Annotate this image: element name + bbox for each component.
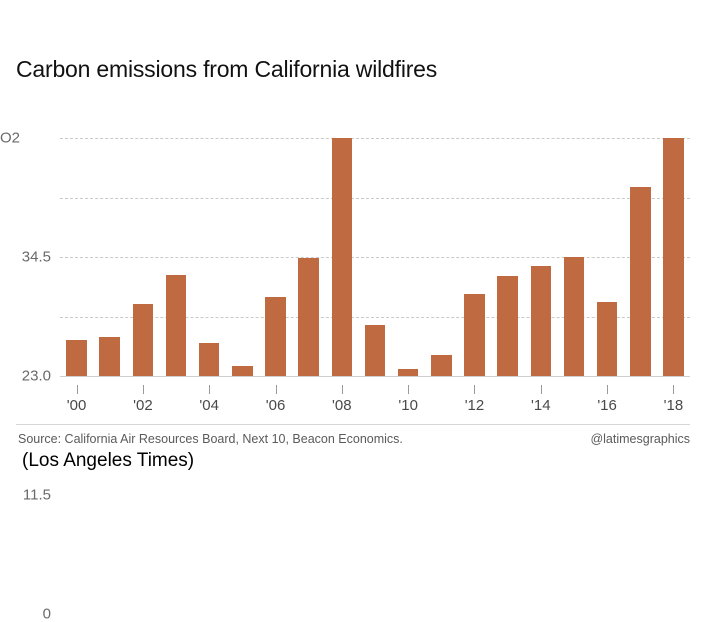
x-axis-label-2004: '04 [199, 397, 219, 414]
bar-2002[interactable] [133, 304, 154, 376]
bar-series [60, 138, 690, 376]
bar-2014[interactable] [531, 266, 552, 376]
bar-2015[interactable] [564, 257, 585, 376]
chart-title: Carbon emissions from California wildfir… [16, 56, 437, 83]
x-axis-tick-2016 [607, 385, 608, 394]
chart-graphic: Carbon emissions from California wildfir… [0, 28, 706, 432]
x-axis-label-2002: '02 [133, 397, 153, 414]
x-axis-label-2016: '16 [597, 397, 617, 414]
y-axis-label-23: 23.0 [22, 367, 51, 384]
bar-2005[interactable] [232, 366, 253, 376]
bar-2004[interactable] [199, 343, 220, 376]
credit-handle: @latimesgraphics [590, 432, 690, 446]
x-axis-tick-2002 [143, 385, 144, 394]
bar-2012[interactable] [464, 294, 485, 376]
bar-2007[interactable] [298, 258, 319, 376]
x-axis-tick-2004 [209, 385, 210, 394]
x-axis-tick-2010 [408, 385, 409, 394]
y-axis-label-46: 46.0 million metric tons CO2 [0, 129, 20, 146]
image-caption: (Los Angeles Times) [22, 450, 194, 472]
x-axis-tick-2014 [541, 385, 542, 394]
y-axis-label-11.5: 11.5 [23, 486, 51, 503]
source-note: Source: California Air Resources Board, … [18, 432, 403, 446]
bar-2016[interactable] [597, 302, 618, 377]
x-axis-label-2014: '14 [531, 397, 551, 414]
x-axis: '00'02'04'06'08'10'12'14'16'18 [60, 377, 690, 417]
bar-2017[interactable] [630, 187, 651, 376]
x-axis-label-2018: '18 [664, 397, 684, 414]
x-axis-tick-2018 [673, 385, 674, 394]
x-axis-label-2006: '06 [266, 397, 286, 414]
x-axis-tick-2012 [474, 385, 475, 394]
bar-2008[interactable] [332, 138, 353, 376]
x-axis-tick-2000 [77, 385, 78, 394]
x-axis-label-2012: '12 [465, 397, 485, 414]
footer-divider [16, 424, 690, 425]
bar-2013[interactable] [497, 276, 518, 376]
x-axis-tick-2006 [276, 385, 277, 394]
bar-2018[interactable] [663, 138, 684, 376]
bar-2003[interactable] [166, 275, 187, 376]
bar-2006[interactable] [265, 297, 286, 376]
plot-area: 46.0 million metric tons CO234.523.011.5… [60, 138, 690, 376]
y-axis-label-0: 0 [43, 605, 51, 622]
bar-2000[interactable] [66, 340, 87, 376]
bar-2010[interactable] [398, 369, 419, 376]
x-axis-tick-2008 [342, 385, 343, 394]
bar-2011[interactable] [431, 355, 452, 376]
y-axis-label-34.5: 34.5 [22, 248, 51, 265]
x-axis-label-2000: '00 [67, 397, 87, 414]
x-axis-label-2010: '10 [398, 397, 418, 414]
bar-2001[interactable] [99, 337, 120, 376]
page-root: Carbon emissions from California wildfir… [0, 0, 706, 496]
bar-2009[interactable] [365, 325, 386, 376]
x-axis-label-2008: '08 [332, 397, 352, 414]
